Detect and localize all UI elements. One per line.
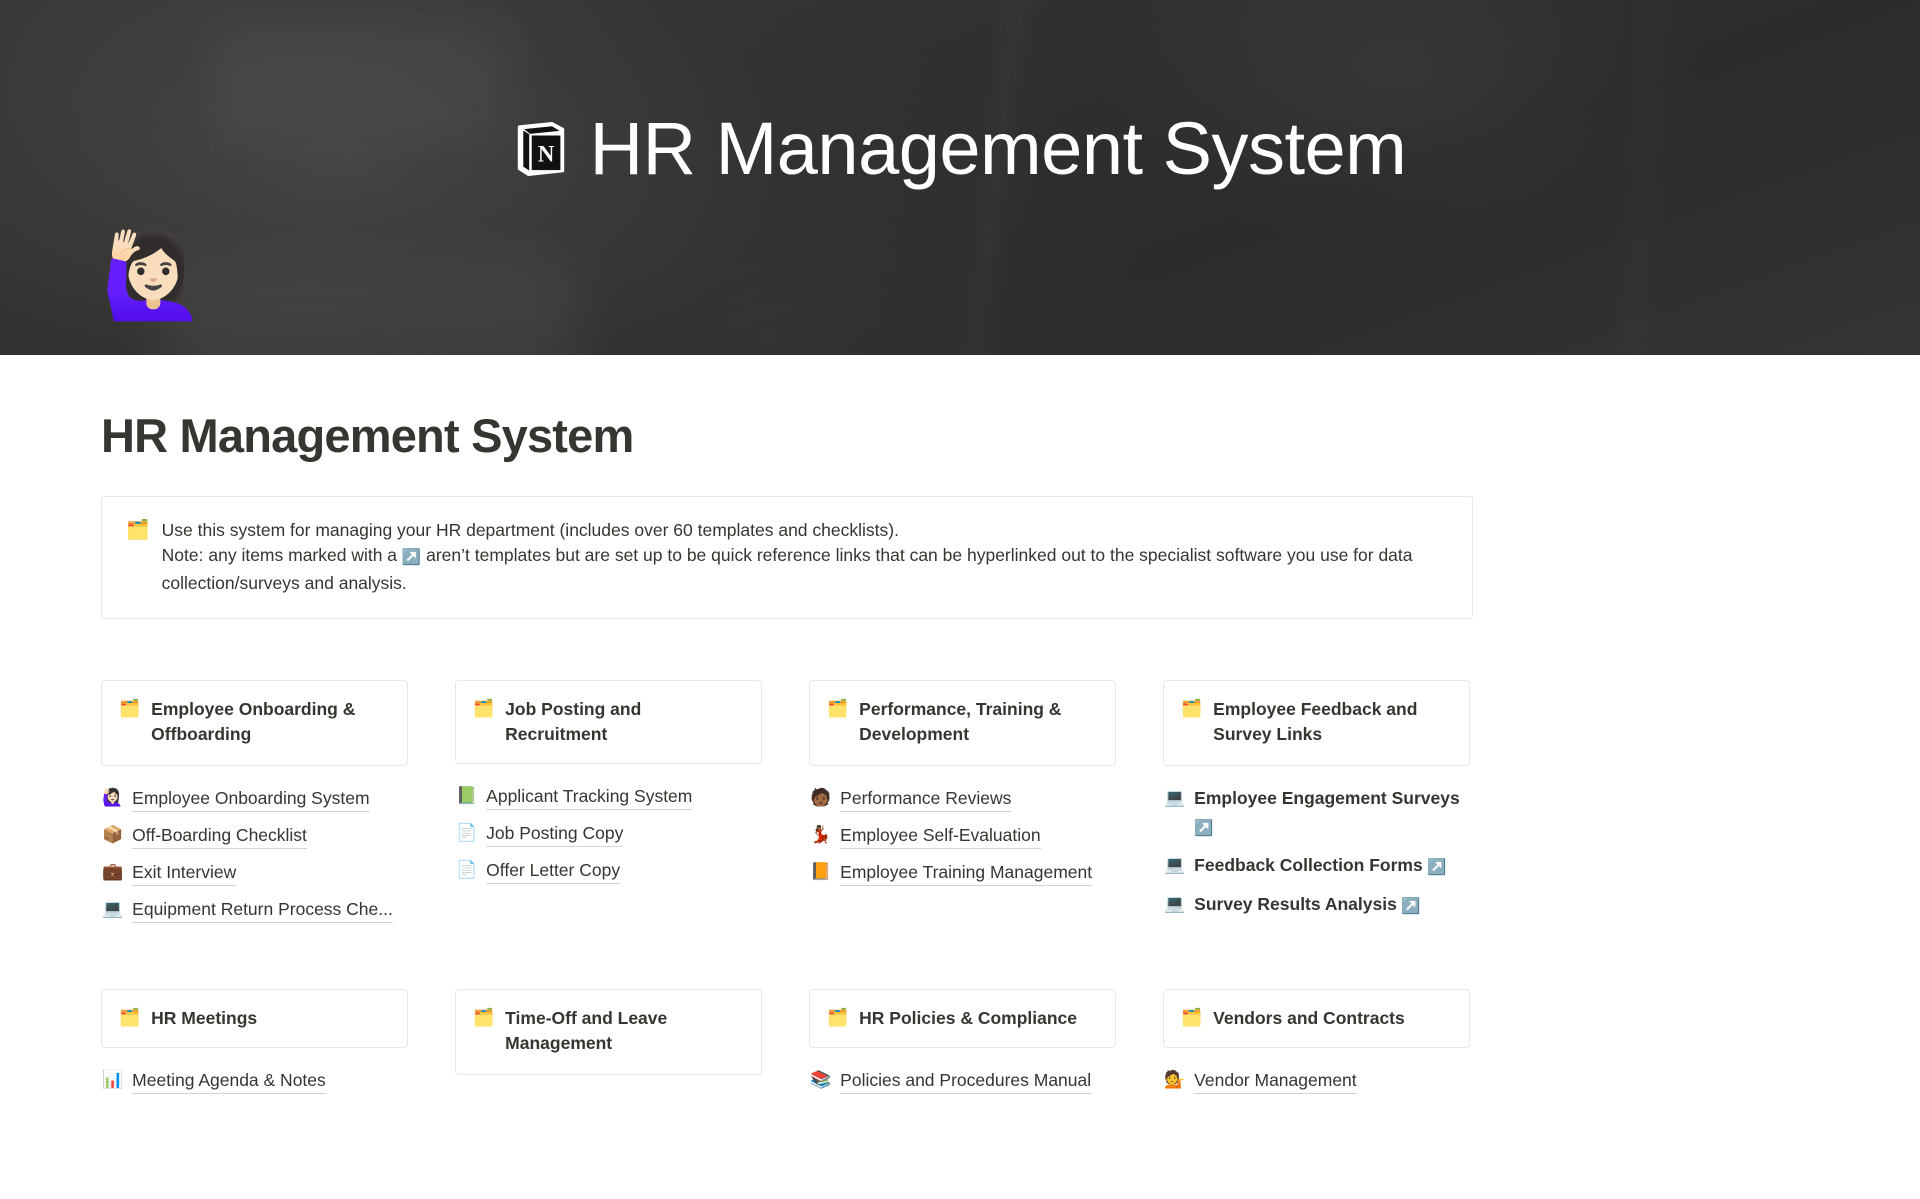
- page-link-label[interactable]: Job Posting Copy: [486, 820, 623, 847]
- item-emoji-icon: 💻: [1164, 891, 1185, 917]
- item-emoji-icon: 💻: [1164, 785, 1185, 811]
- column-vendors-and-contracts: 🗂️Vendors and Contracts💁Vendor Managemen…: [1163, 989, 1470, 1099]
- page-link-label[interactable]: Off-Boarding Checklist: [132, 822, 307, 849]
- page-link-label[interactable]: Performance Reviews: [840, 785, 1011, 812]
- link-list: 📊Meeting Agenda & Notes: [101, 1062, 408, 1099]
- card-title: Performance, Training & Development: [859, 697, 1099, 747]
- page-link-label[interactable]: Meeting Agenda & Notes: [132, 1067, 326, 1094]
- column-hr-policies-compliance: 🗂️HR Policies & Compliance📚Policies and …: [809, 989, 1116, 1099]
- item-emoji-icon: 💻: [1164, 852, 1185, 878]
- intro-callout: 🗂️ Use this system for managing your HR …: [101, 496, 1473, 620]
- card-employee-onboarding-offboarding[interactable]: 🗂️Employee Onboarding & Offboarding: [101, 680, 408, 766]
- item-emoji-icon: 📊: [102, 1067, 123, 1093]
- folder-icon: 🗂️: [827, 1006, 848, 1030]
- page-content: 🙋🏻‍♀️ HR Management System 🗂️ Use this s…: [0, 355, 1920, 1099]
- page-link-label[interactable]: Exit Interview: [132, 859, 236, 886]
- item-emoji-icon: 📄: [456, 857, 477, 883]
- link-list: 📗Applicant Tracking System📄Job Posting C…: [455, 778, 762, 889]
- reference-link-label[interactable]: Survey Results Analysis ↗️: [1194, 891, 1420, 920]
- folder-icon: 🗂️: [473, 697, 494, 721]
- list-item[interactable]: 📗Applicant Tracking System: [455, 778, 762, 815]
- card-employee-feedback-and-survey-links[interactable]: 🗂️Employee Feedback and Survey Links: [1163, 680, 1470, 766]
- column-employee-feedback-and-survey-links: 🗂️Employee Feedback and Survey Links💻Emp…: [1163, 680, 1470, 928]
- callout-line-2: Note: any items marked with a ↗️ aren’t …: [162, 543, 1448, 596]
- folder-icon: 🗂️: [473, 1006, 494, 1030]
- item-emoji-icon: 💻: [102, 896, 123, 922]
- item-emoji-icon: 📗: [456, 783, 477, 809]
- external-link-icon: ↗️: [1423, 859, 1447, 876]
- link-list: 💁Vendor Management: [1163, 1062, 1470, 1099]
- list-item[interactable]: 📚Policies and Procedures Manual: [809, 1062, 1116, 1099]
- notion-logo-icon: N: [514, 121, 568, 177]
- list-item[interactable]: 📊Meeting Agenda & Notes: [101, 1062, 408, 1099]
- page-icon[interactable]: 🙋🏻‍♀️: [101, 227, 197, 323]
- folder-icon: 🗂️: [126, 518, 150, 543]
- card-hr-policies-compliance[interactable]: 🗂️HR Policies & Compliance: [809, 989, 1116, 1048]
- list-item[interactable]: 📄Offer Letter Copy: [455, 852, 762, 889]
- list-item[interactable]: 💼Exit Interview: [101, 854, 408, 891]
- folder-icon: 🗂️: [827, 697, 848, 721]
- list-item[interactable]: 💁Vendor Management: [1163, 1062, 1470, 1099]
- card-time-off-and-leave-management[interactable]: 🗂️Time-Off and Leave Management: [455, 989, 762, 1075]
- column-employee-onboarding-offboarding: 🗂️Employee Onboarding & Offboarding🙋🏻‍♀️…: [101, 680, 408, 928]
- list-item[interactable]: 🙋🏻‍♀️Employee Onboarding System: [101, 780, 408, 817]
- item-emoji-icon: 📚: [810, 1067, 831, 1093]
- list-item[interactable]: 💻Feedback Collection Forms ↗️: [1163, 847, 1470, 886]
- item-emoji-icon: 📄: [456, 820, 477, 846]
- item-emoji-icon: 📦: [102, 822, 123, 848]
- item-emoji-icon: 📙: [810, 859, 831, 885]
- reference-link-label[interactable]: Feedback Collection Forms ↗️: [1194, 852, 1446, 881]
- list-item[interactable]: 💃🏾Employee Self-Evaluation: [809, 817, 1116, 854]
- item-emoji-icon: 🙋🏻‍♀️: [102, 785, 123, 811]
- column-time-off-and-leave-management: 🗂️Time-Off and Leave Management: [455, 989, 762, 1099]
- cover-title: HR Management System: [590, 112, 1407, 186]
- column-job-posting-and-recruitment: 🗂️Job Posting and Recruitment📗Applicant …: [455, 680, 762, 928]
- list-item[interactable]: 💻Equipment Return Process Che...: [101, 891, 408, 928]
- folder-icon: 🗂️: [1181, 1006, 1202, 1030]
- item-emoji-icon: 🧑🏾: [810, 785, 831, 811]
- external-link-icon: ↗️: [1397, 898, 1421, 915]
- card-job-posting-and-recruitment[interactable]: 🗂️Job Posting and Recruitment: [455, 680, 762, 764]
- card-title: Employee Feedback and Survey Links: [1213, 697, 1453, 747]
- column-performance-training-development: 🗂️Performance, Training & Development🧑🏾P…: [809, 680, 1116, 928]
- cover-title-block: N HR Management System: [0, 0, 1920, 355]
- card-performance-training-development[interactable]: 🗂️Performance, Training & Development: [809, 680, 1116, 766]
- page-link-label[interactable]: Employee Training Management: [840, 859, 1092, 886]
- link-list: 🧑🏾Performance Reviews💃🏾Employee Self-Eva…: [809, 780, 1116, 891]
- svg-text:N: N: [538, 141, 555, 166]
- list-item[interactable]: 🧑🏾Performance Reviews: [809, 780, 1116, 817]
- list-item[interactable]: 💻Employee Engagement Surveys ↗️: [1163, 780, 1470, 847]
- card-title: HR Policies & Compliance: [859, 1006, 1077, 1031]
- link-list: 🙋🏻‍♀️Employee Onboarding System📦Off-Boar…: [101, 780, 408, 928]
- page-link-label[interactable]: Applicant Tracking System: [486, 783, 692, 810]
- card-title: Vendors and Contracts: [1213, 1006, 1405, 1031]
- section-grid-row-1: 🗂️Employee Onboarding & Offboarding🙋🏻‍♀️…: [101, 680, 1473, 928]
- item-emoji-icon: 💁: [1164, 1067, 1185, 1093]
- section-grid-row-2: 🗂️HR Meetings📊Meeting Agenda & Notes🗂️Ti…: [101, 989, 1473, 1099]
- item-emoji-icon: 💼: [102, 859, 123, 885]
- callout-note-prefix: Note: any items marked with a: [162, 545, 397, 565]
- list-item[interactable]: 📦Off-Boarding Checklist: [101, 817, 408, 854]
- card-title: Job Posting and Recruitment: [505, 697, 745, 747]
- page-link-label[interactable]: Offer Letter Copy: [486, 857, 620, 884]
- list-item[interactable]: 💻Survey Results Analysis ↗️: [1163, 886, 1470, 925]
- external-link-icon: ↗️: [402, 549, 421, 566]
- page-cover-image: N HR Management System: [0, 0, 1920, 355]
- external-link-icon: ↗️: [1194, 820, 1213, 837]
- column-hr-meetings: 🗂️HR Meetings📊Meeting Agenda & Notes: [101, 989, 408, 1099]
- link-list: 💻Employee Engagement Surveys ↗️💻Feedback…: [1163, 780, 1470, 925]
- list-item[interactable]: 📙Employee Training Management: [809, 854, 1116, 891]
- callout-line-1: Use this system for managing your HR dep…: [162, 518, 1448, 544]
- page-title: HR Management System: [101, 355, 1473, 463]
- item-emoji-icon: 💃🏾: [810, 822, 831, 848]
- page-link-label[interactable]: Vendor Management: [1194, 1067, 1356, 1094]
- reference-link-label[interactable]: Employee Engagement Surveys ↗️: [1194, 785, 1470, 842]
- callout-body: Use this system for managing your HR dep…: [162, 518, 1448, 597]
- folder-icon: 🗂️: [119, 1006, 140, 1030]
- page-link-label[interactable]: Policies and Procedures Manual: [840, 1067, 1091, 1094]
- list-item[interactable]: 📄Job Posting Copy: [455, 815, 762, 852]
- page-link-label[interactable]: Equipment Return Process Che...: [132, 896, 393, 923]
- card-title: Employee Onboarding & Offboarding: [151, 697, 391, 747]
- card-vendors-and-contracts[interactable]: 🗂️Vendors and Contracts: [1163, 989, 1470, 1048]
- folder-icon: 🗂️: [119, 697, 140, 721]
- page-link-label[interactable]: Employee Onboarding System: [132, 785, 369, 812]
- folder-icon: 🗂️: [1181, 697, 1202, 721]
- card-title: Time-Off and Leave Management: [505, 1006, 745, 1056]
- link-list: 📚Policies and Procedures Manual: [809, 1062, 1116, 1099]
- card-hr-meetings[interactable]: 🗂️HR Meetings: [101, 989, 408, 1048]
- page-link-label[interactable]: Employee Self-Evaluation: [840, 822, 1040, 849]
- card-title: HR Meetings: [151, 1006, 257, 1031]
